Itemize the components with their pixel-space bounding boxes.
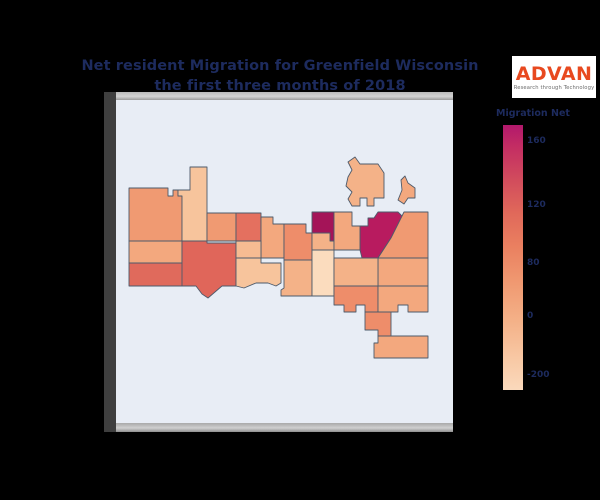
window-left-gutter: [104, 92, 116, 432]
horizontal-scrollbar-bottom[interactable]: [116, 423, 453, 432]
region-central-south[interactable]: [236, 258, 281, 288]
region-southeast-1[interactable]: [334, 286, 378, 312]
region-nw-large[interactable]: [129, 188, 182, 241]
map-figure-window: [104, 92, 453, 432]
advan-tagline: Research through Technology: [514, 85, 595, 91]
region-north-tower[interactable]: [178, 167, 207, 241]
colorbar-tick-4: -200: [527, 370, 550, 380]
colorbar-title: Migration Net: [496, 108, 570, 119]
region-east-mid[interactable]: [378, 258, 428, 286]
region-south-block[interactable]: [378, 286, 428, 312]
colorbar-tick-2: 80: [527, 258, 540, 268]
region-east-strip[interactable]: [398, 176, 415, 204]
advan-logo: ADVAN Research through Technology: [512, 56, 596, 98]
region-central-west-large[interactable]: [182, 241, 236, 298]
region-central-mid[interactable]: [236, 241, 261, 258]
region-peninsula[interactable]: [346, 157, 384, 206]
colorbar-tick-3: 0: [527, 311, 533, 321]
region-mid-column-lower[interactable]: [281, 260, 312, 296]
choropleth-map[interactable]: [116, 100, 453, 423]
region-nw-mid[interactable]: [129, 241, 182, 263]
region-southeast-tail[interactable]: [365, 312, 391, 336]
region-central-n3[interactable]: [261, 217, 284, 258]
region-central-n1[interactable]: [207, 213, 236, 241]
region-mid-column[interactable]: [284, 224, 312, 260]
colorbar-gradient: [503, 125, 523, 390]
region-central-lower-2[interactable]: [334, 212, 360, 250]
advan-wordmark: ADVAN: [516, 64, 593, 84]
region-pale-core[interactable]: [312, 250, 334, 296]
colorbar-legend: Migration Net 160 120 80 0 -200: [496, 108, 600, 398]
horizontal-scrollbar-top[interactable]: [116, 92, 453, 100]
region-central-n2[interactable]: [236, 213, 261, 241]
colorbar-tick-0: 160: [527, 136, 546, 146]
region-southeast-2[interactable]: [334, 258, 378, 286]
region-bottom-block[interactable]: [374, 336, 428, 358]
page-title: Net resident Migration for Greenfield Wi…: [60, 56, 500, 96]
colorbar-tick-1: 120: [527, 200, 546, 210]
title-line-1: Net resident Migration for Greenfield Wi…: [81, 58, 478, 74]
